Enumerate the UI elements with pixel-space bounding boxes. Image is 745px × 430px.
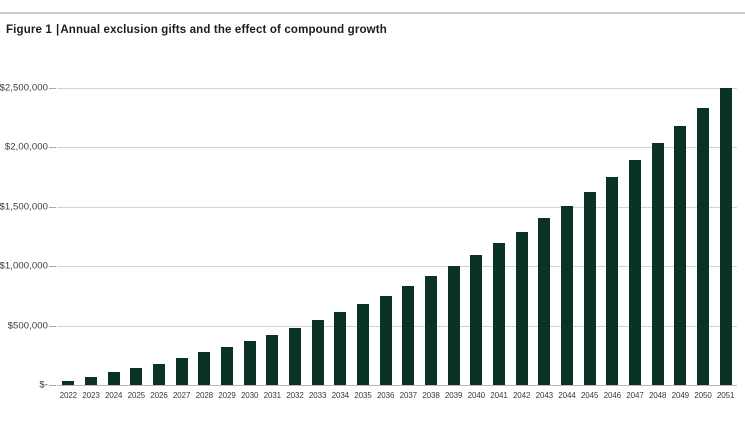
bar[interactable] [221, 347, 233, 385]
bar[interactable] [153, 364, 165, 385]
bar[interactable] [652, 143, 664, 385]
bar[interactable] [357, 304, 369, 385]
bar[interactable] [402, 286, 414, 385]
bar[interactable] [85, 377, 97, 385]
bar[interactable] [312, 320, 324, 385]
y-axis-tick-mark [49, 326, 56, 327]
bar[interactable] [62, 381, 74, 385]
bars-layer [57, 88, 737, 385]
bar[interactable] [674, 126, 686, 385]
y-axis-tick-label: $- [39, 380, 48, 391]
y-axis-tick-label: $500,000 [8, 320, 48, 331]
y-axis: $2,500,000$2,00,000$1,500,000$1,000,000$… [0, 88, 48, 385]
bar[interactable] [697, 108, 709, 385]
y-axis-tick-mark [49, 385, 56, 386]
figure-container: Figure 1|Annual exclusion gifts and the … [0, 0, 745, 430]
bar[interactable] [289, 328, 301, 385]
bar[interactable] [334, 312, 346, 385]
bar[interactable] [561, 206, 573, 386]
bar[interactable] [266, 335, 278, 385]
y-axis-tick-mark [49, 266, 56, 267]
x-axis-tick-label: 2051 [712, 391, 740, 400]
y-axis-tick-label: $2,00,000 [5, 142, 48, 153]
bar[interactable] [720, 88, 732, 385]
y-axis-tick-mark [49, 147, 56, 148]
bar[interactable] [198, 352, 210, 385]
y-axis-tick-mark [49, 88, 56, 89]
y-axis-tick-mark [49, 207, 56, 208]
bar[interactable] [380, 296, 392, 385]
bar[interactable] [108, 372, 120, 385]
bar[interactable] [516, 232, 528, 385]
bar[interactable] [176, 358, 188, 385]
bar[interactable] [130, 368, 142, 385]
bar[interactable] [493, 243, 505, 385]
bar[interactable] [244, 341, 256, 385]
bar[interactable] [425, 276, 437, 385]
bar-chart: $2,500,000$2,00,000$1,500,000$1,000,000$… [0, 0, 745, 430]
y-axis-tick-label: $1,000,000 [0, 261, 48, 272]
bar[interactable] [538, 218, 550, 385]
gridline [57, 385, 737, 386]
y-axis-tick-label: $1,500,000 [0, 201, 48, 212]
bar[interactable] [448, 266, 460, 385]
bar[interactable] [470, 255, 482, 385]
y-axis-tick-label: $2,500,000 [0, 83, 48, 94]
bar[interactable] [629, 160, 641, 385]
bar[interactable] [584, 192, 596, 385]
bar[interactable] [606, 177, 618, 385]
